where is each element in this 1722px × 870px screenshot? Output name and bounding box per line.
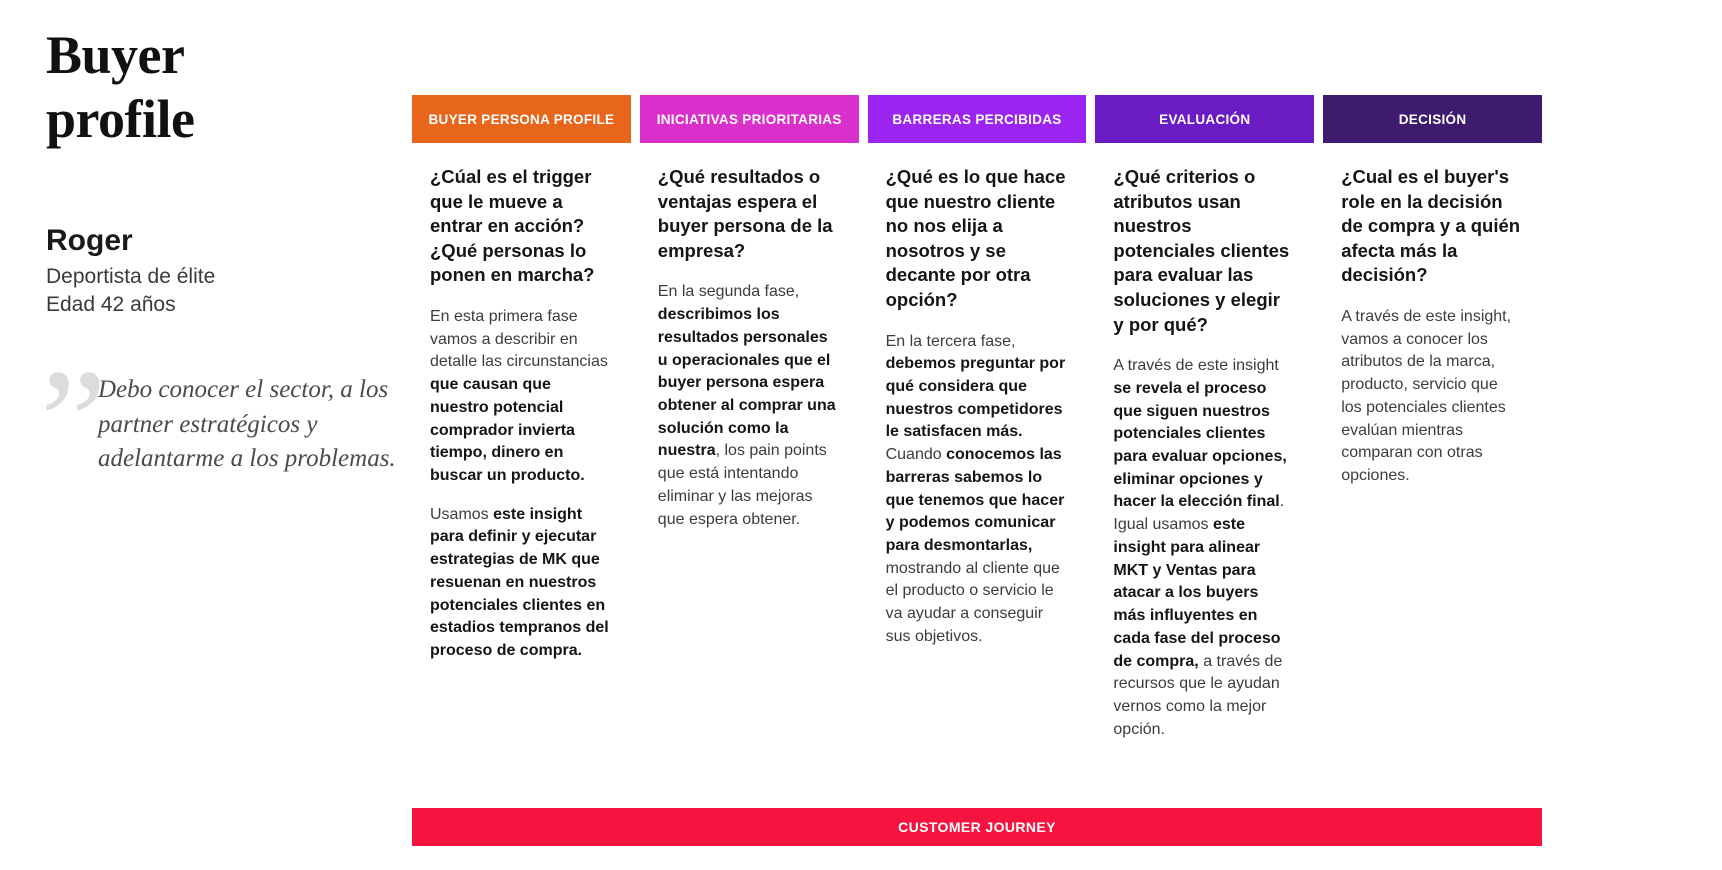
left-panel: Buyer profile Roger Deportista de élite … xyxy=(46,24,406,477)
persona-age: Edad 42 años xyxy=(46,291,406,319)
column-body-iniciativas-prioritarias: ¿Qué resultados o ventajas espera el buy… xyxy=(640,143,859,531)
buyer-profile-slide: Buyer profile Roger Deportista de élite … xyxy=(0,0,1722,870)
column-paragraph: Usamos este insight para definir y ejecu… xyxy=(430,504,611,663)
column-evaluacion: EVALUACIÓN ¿Qué criterios o atributos us… xyxy=(1095,95,1314,757)
column-paragraph: A través de este insight, vamos a conoce… xyxy=(1341,306,1522,488)
buyer-journey-columns: BUYER PERSONA PROFILE ¿Cúal es el trigge… xyxy=(412,95,1542,757)
column-header-buyer-persona-profile[interactable]: BUYER PERSONA PROFILE xyxy=(412,95,631,143)
column-iniciativas-prioritarias: INICIATIVAS PRIORITARIAS ¿Qué resultados… xyxy=(640,95,859,757)
column-paragraph: En la segunda fase, describimos los resu… xyxy=(658,281,839,531)
column-body-buyer-persona-profile: ¿Cúal es el trigger que le mueve a entra… xyxy=(412,143,631,663)
column-header-iniciativas-prioritarias[interactable]: INICIATIVAS PRIORITARIAS xyxy=(640,95,859,143)
column-paragraph: En esta primera fase vamos a describir e… xyxy=(430,306,611,488)
column-question: ¿Cúal es el trigger que le mueve a entra… xyxy=(430,165,611,288)
column-header-evaluacion[interactable]: EVALUACIÓN xyxy=(1095,95,1314,143)
column-question: ¿Qué es lo que hace que nuestro cliente … xyxy=(886,165,1067,313)
persona-quote-block: ” Debo conocer el sector, a los partner … xyxy=(46,373,406,477)
persona-name: Roger xyxy=(46,223,406,259)
column-barreras-percibidas: BARRERAS PERCIBIDAS ¿Qué es lo que hace … xyxy=(868,95,1087,757)
column-header-decision[interactable]: DECISIÓN xyxy=(1323,95,1542,143)
persona-role: Deportista de élite xyxy=(46,263,406,291)
column-body-evaluacion: ¿Qué criterios o atributos usan nuestros… xyxy=(1095,143,1314,741)
customer-journey-bar[interactable]: CUSTOMER JOURNEY xyxy=(412,808,1542,846)
column-question: ¿Qué criterios o atributos usan nuestros… xyxy=(1113,165,1294,337)
persona-quote-text: Debo conocer el sector, a los partner es… xyxy=(98,373,398,477)
column-header-barreras-percibidas[interactable]: BARRERAS PERCIBIDAS xyxy=(868,95,1087,143)
column-question: ¿Cual es el buyer's role en la decisión … xyxy=(1341,165,1522,288)
column-body-barreras-percibidas: ¿Qué es lo que hace que nuestro cliente … xyxy=(868,143,1087,649)
column-buyer-persona-profile: BUYER PERSONA PROFILE ¿Cúal es el trigge… xyxy=(412,95,631,757)
column-question: ¿Qué resultados o ventajas espera el buy… xyxy=(658,165,839,263)
column-decision: DECISIÓN ¿Cual es el buyer's role en la … xyxy=(1323,95,1542,757)
page-title-line-1: Buyer xyxy=(46,25,185,85)
column-paragraph: En la tercera fase, debemos preguntar po… xyxy=(886,331,1067,649)
persona-block: Roger Deportista de élite Edad 42 años xyxy=(46,223,406,319)
quote-mark-icon: ” xyxy=(40,347,107,497)
column-body-decision: ¿Cual es el buyer's role en la decisión … xyxy=(1323,143,1542,488)
page-title-line-2: profile xyxy=(46,89,194,149)
column-paragraph: A través de este insight se revela el pr… xyxy=(1113,355,1294,741)
page-title: Buyer profile xyxy=(46,24,406,151)
